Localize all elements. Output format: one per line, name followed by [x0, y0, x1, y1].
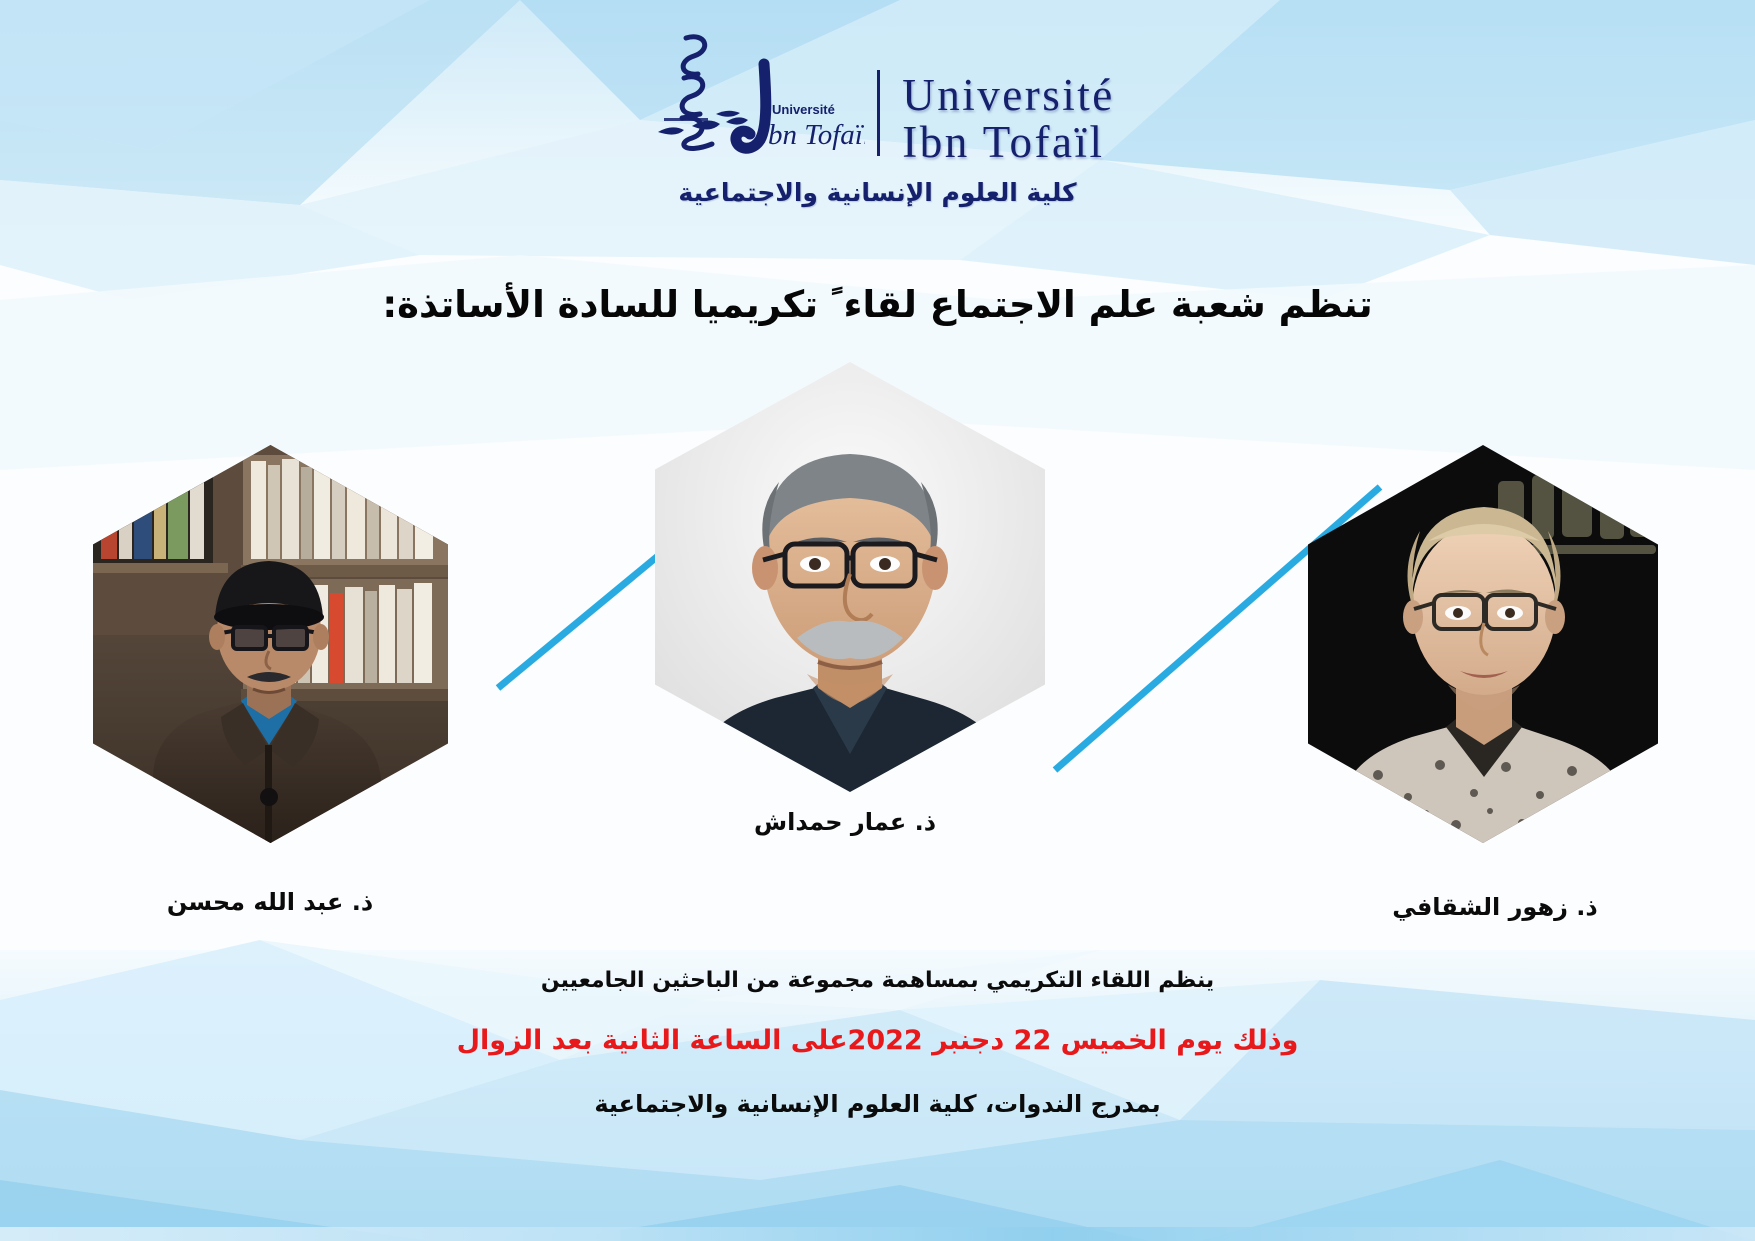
university-wordmark: Université Ibn Tofaïl: [902, 72, 1114, 172]
honoree-caption-left: ذ. عبد الله محسن: [40, 888, 500, 916]
honoree-caption-right: ذ. زهور الشقافي: [1265, 893, 1725, 921]
honoree-caption-center: ذ. عمار حمداش: [615, 808, 1075, 836]
wordmark-line-2: Ibn Tofaïl: [902, 119, 1114, 166]
svg-text:Université: Université: [772, 102, 835, 117]
page-title: تنظم شعبة علم الاجتماع لقاء ً تكريميا لل…: [0, 283, 1755, 326]
portrait-ammar-hammadache: [655, 362, 1045, 792]
footer-line-2: وذلك يوم الخميس 22 دجنبر 2022على الساعة …: [0, 1025, 1755, 1056]
bottom-strip: [0, 1227, 1755, 1241]
university-logo: Université bn Tofaïl Université Ibn Tofa…: [640, 22, 1114, 172]
portrait-abdallah-mohsin: [93, 445, 448, 843]
honoree-photo-right: [1308, 445, 1658, 843]
honoree-photo-left: [93, 445, 448, 843]
logo-divider: [877, 70, 880, 156]
portrait-zhour-chakafi: [1308, 445, 1658, 843]
svg-text:bn Tofaïl: bn Tofaïl: [768, 119, 865, 151]
header: Université bn Tofaïl Université Ibn Tofa…: [0, 22, 1755, 207]
footer-text: ينظم اللقاء التكريمي بمساهمة مجموعة من ا…: [0, 968, 1755, 1118]
footer-line-3: بمدرج الندوات، كلية العلوم الإنسانية وال…: [0, 1090, 1755, 1118]
honoree-photo-center: [655, 362, 1045, 792]
wordmark-line-1: Université: [902, 72, 1114, 119]
ibn-tofail-logo-icon: Université bn Tofaïl: [640, 22, 865, 172]
faculty-name: كلية العلوم الإنسانية والاجتماعية: [678, 178, 1076, 207]
poster-root: Université bn Tofaïl Université Ibn Tofa…: [0, 0, 1755, 1241]
footer-line-1: ينظم اللقاء التكريمي بمساهمة مجموعة من ا…: [0, 968, 1755, 993]
